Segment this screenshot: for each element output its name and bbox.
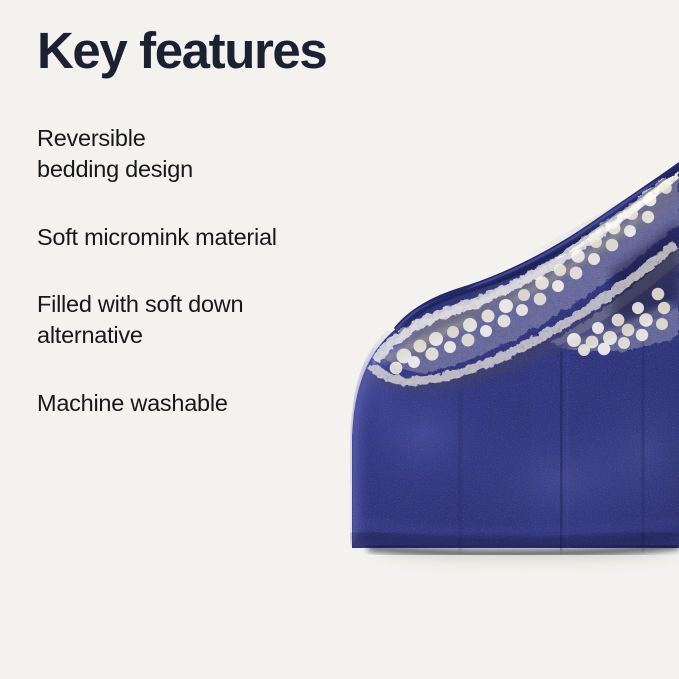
feature-list: Reversible bedding design Soft micromink… bbox=[37, 123, 377, 419]
infographic-page: Key features Reversible bedding design S… bbox=[0, 0, 679, 679]
feature-item-micromink: Soft micromink material bbox=[37, 222, 377, 253]
feature-item-machine-washable: Machine washable bbox=[37, 388, 377, 419]
feature-text-column: Key features Reversible bedding design S… bbox=[37, 0, 377, 419]
feature-item-reversible: Reversible bedding design bbox=[37, 123, 377, 185]
page-title: Key features bbox=[37, 0, 377, 78]
feature-item-down-alternative: Filled with soft down alternative bbox=[37, 289, 377, 351]
